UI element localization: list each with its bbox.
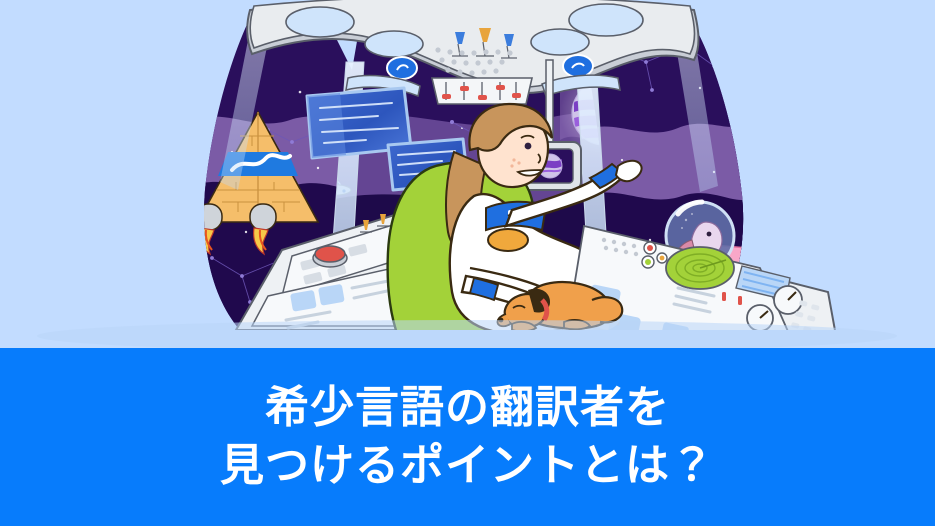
ceiling-slider-panel[interactable] (432, 78, 532, 104)
red-emergency-button[interactable] (313, 246, 347, 267)
title-line-1: 希少言語の翻訳者を (265, 379, 670, 437)
radar-screen[interactable] (666, 247, 734, 289)
hero-illustration (0, 0, 935, 348)
blog-header-card: 希少言語の翻訳者を 見つけるポイントとは？ (0, 0, 935, 526)
title-line-2: 見つけるポイントとは？ (220, 437, 715, 495)
title-banner: 希少言語の翻訳者を 見つけるポイントとは？ (0, 348, 935, 526)
